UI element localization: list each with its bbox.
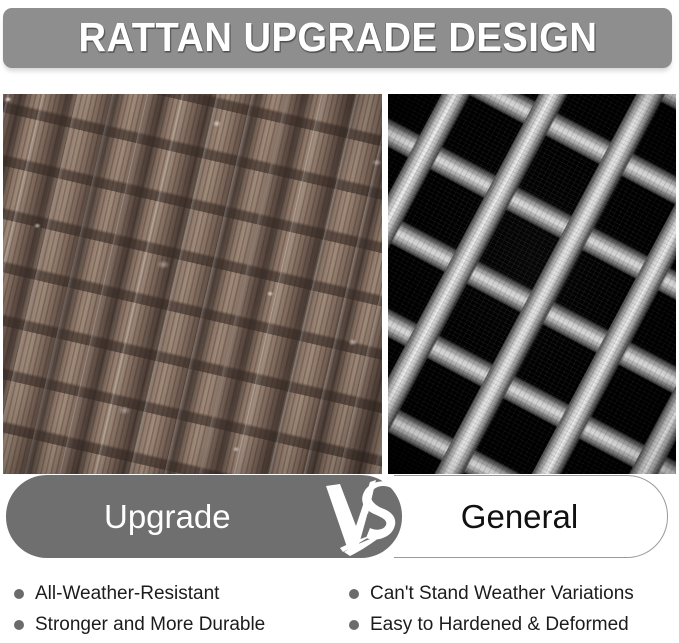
upgrade-side-panel: Upgrade [6, 475, 402, 558]
upgrade-rattan-photo [3, 94, 382, 474]
versus-comparison-bar: Upgrade General [6, 475, 668, 558]
list-item: All-Weather-Resistant [14, 578, 344, 609]
list-item: Easy to Hardened & Deformed [349, 609, 679, 640]
bullet-dot-icon [349, 620, 359, 630]
bullet-dot-icon [14, 620, 24, 630]
bullet-dot-icon [349, 589, 359, 599]
page-title: RATTAN UPGRADE DESIGN [78, 17, 597, 60]
list-item: Stronger and More Durable [14, 609, 344, 640]
general-feature-label: Easy to Hardened & Deformed [370, 615, 629, 634]
general-side-panel: General [394, 475, 668, 558]
feature-comparison-lists: All-Weather-Resistant Stronger and More … [0, 578, 679, 643]
header-banner: RATTAN UPGRADE DESIGN [3, 8, 672, 68]
wet-brown-rattan-weave-texture [3, 94, 382, 474]
list-item: Can't Stand Weather Variations [349, 578, 679, 609]
general-feature-label: Can't Stand Weather Variations [370, 584, 634, 603]
general-label: General [461, 500, 578, 533]
upgrade-feature-label: Stronger and More Durable [35, 615, 265, 634]
upgrade-feature-list: All-Weather-Resistant Stronger and More … [14, 578, 344, 640]
comparison-photo-area [3, 94, 676, 474]
grey-open-grid-rattan-texture [388, 94, 676, 474]
general-rattan-photo [388, 94, 676, 474]
general-feature-list: Can't Stand Weather Variations Easy to H… [349, 578, 679, 640]
upgrade-feature-label: All-Weather-Resistant [35, 584, 219, 603]
upgrade-label: Upgrade [104, 500, 231, 533]
bullet-dot-icon [14, 589, 24, 599]
